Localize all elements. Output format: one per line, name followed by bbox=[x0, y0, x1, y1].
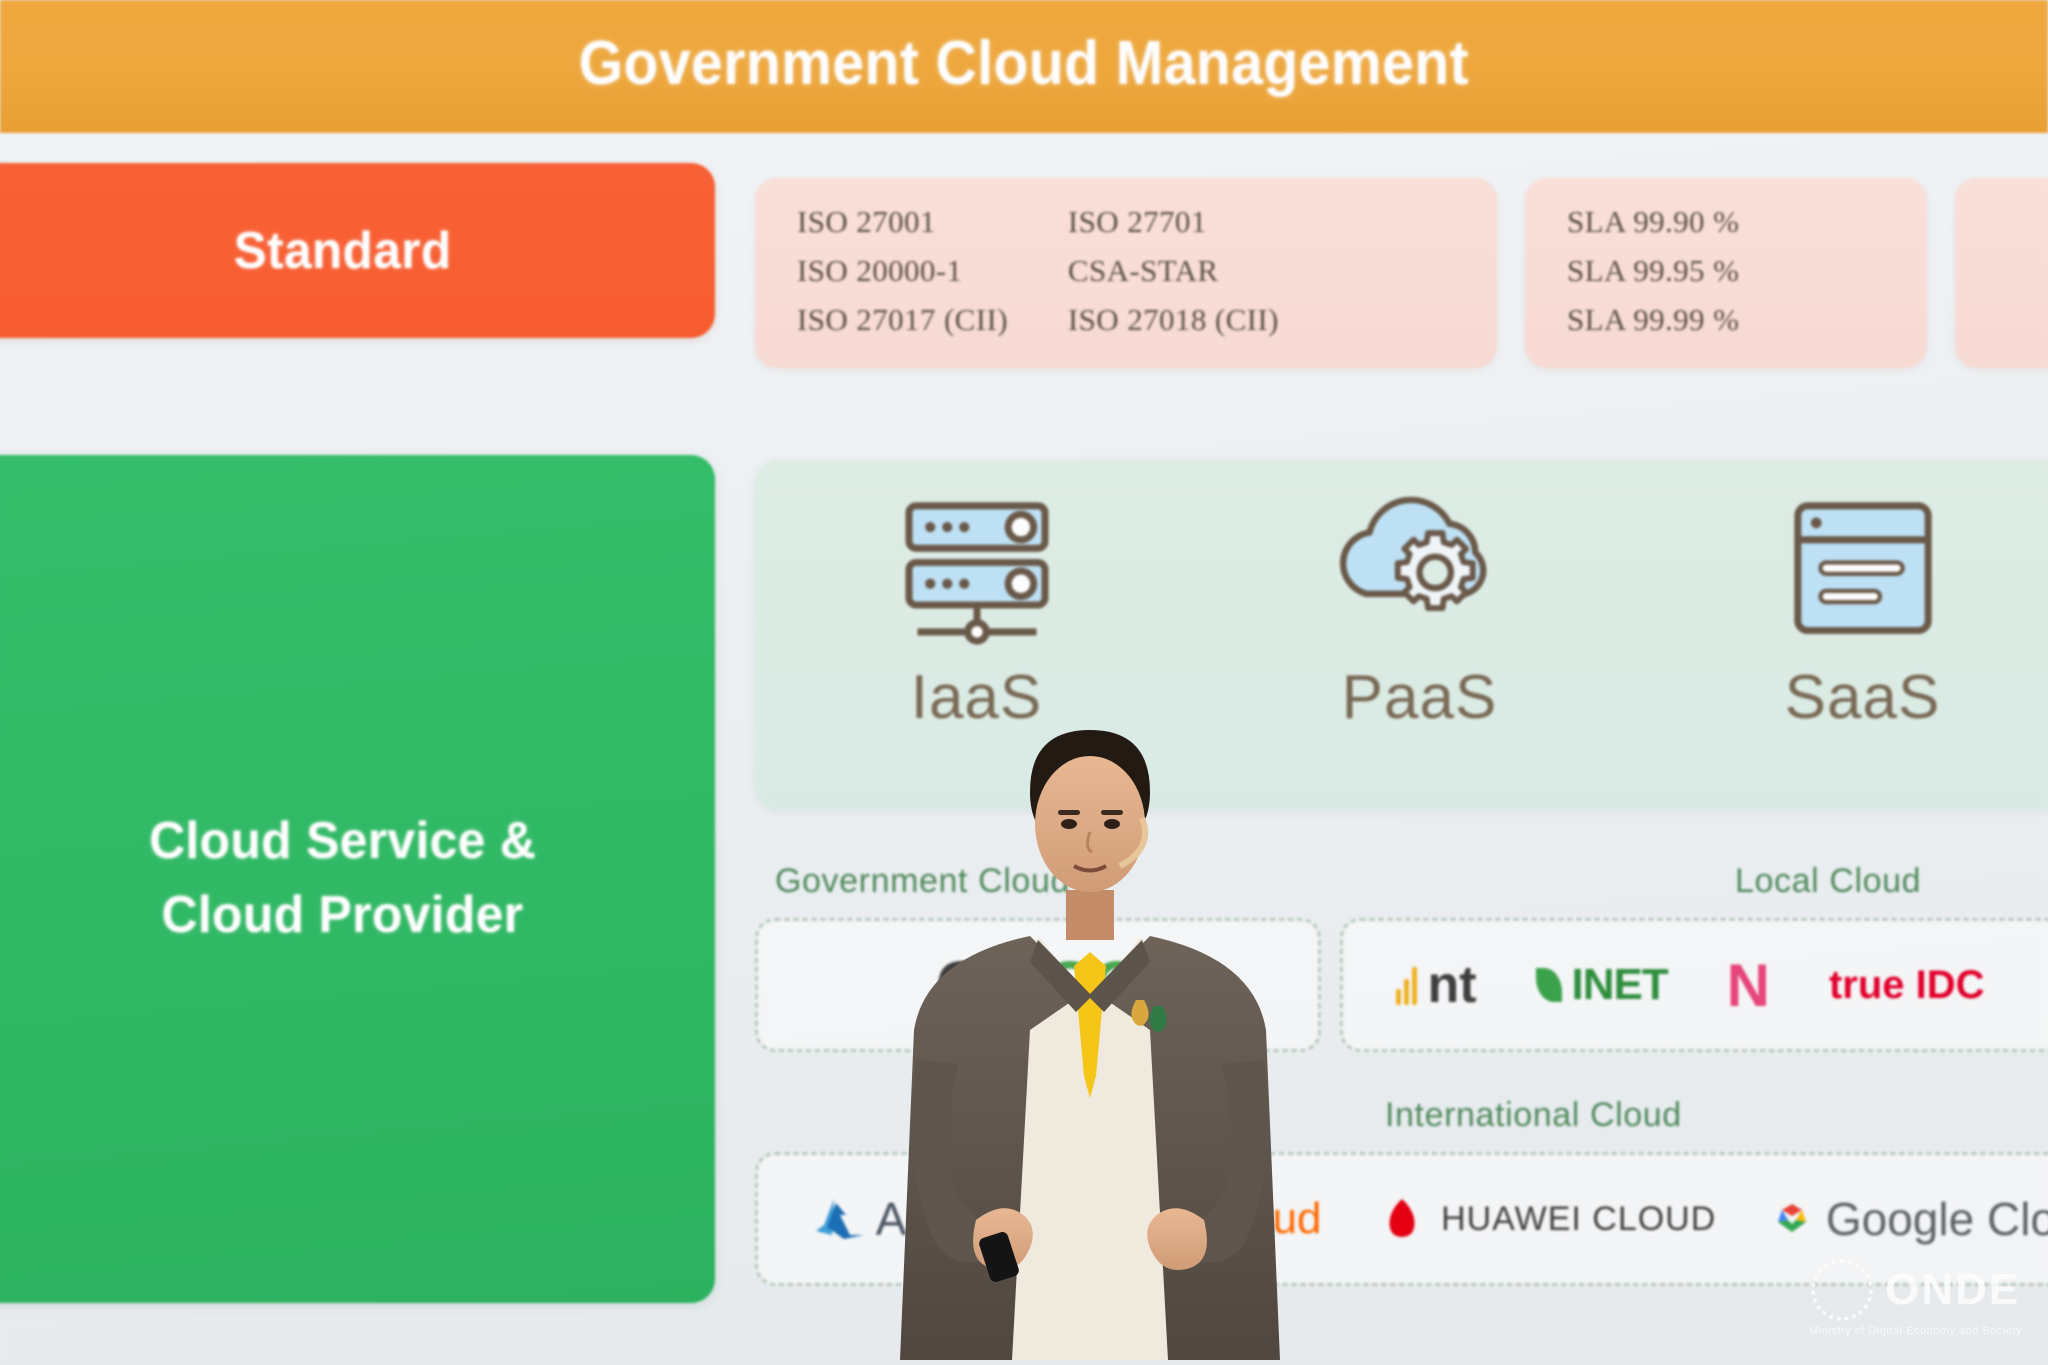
group-heading-local-cloud: Local Cloud bbox=[1735, 862, 1921, 901]
onde-watermark: ONDE Ministry of Digital Economy and Soc… bbox=[1809, 1259, 2022, 1337]
onde-watermark-text: ONDE bbox=[1885, 1265, 2020, 1315]
iso-column-1: ISO 27001 ISO 20000-1 ISO 27017 (CII) bbox=[797, 204, 1008, 338]
service-type-saas: SaaS bbox=[1641, 460, 2048, 733]
cloud-provider-section-label: Cloud Service & Cloud Provider bbox=[0, 455, 715, 1303]
inet-label: INET bbox=[1572, 960, 1668, 1010]
group-heading-international-cloud: International Cloud bbox=[1385, 1096, 1682, 1135]
service-type-paas: PaaS bbox=[1198, 460, 1641, 733]
presenter-photo bbox=[880, 700, 1300, 1365]
true-idc-label: true IDC bbox=[1829, 963, 1985, 1008]
iso-item: CSA-STAR bbox=[1068, 253, 1279, 289]
logo-true-idc: true IDC bbox=[1829, 963, 1985, 1008]
leaf-icon bbox=[1536, 968, 1562, 1002]
huawei-petal-icon bbox=[1373, 1195, 1431, 1243]
standard-cards-row: ISO 27001 ISO 20000-1 ISO 27017 (CII) IS… bbox=[755, 178, 2048, 368]
logo-cloud-generic bbox=[2043, 967, 2048, 1003]
iso-item: ISO 27018 (CII) bbox=[1068, 302, 1279, 338]
neck bbox=[1066, 890, 1114, 940]
provider-label-line1: Cloud Service & bbox=[149, 805, 536, 879]
google-cloud-icon bbox=[1768, 1198, 1816, 1240]
local-cloud-logo-box: nt INET N true IDC bbox=[1340, 918, 2048, 1052]
iso-item: ISO 27701 bbox=[1068, 204, 1279, 240]
browser-window-icon bbox=[1778, 486, 1948, 656]
google-label: Google Cloud bbox=[1826, 1192, 2048, 1246]
standard-section-label: Standard bbox=[0, 163, 715, 338]
logo-nt: nt bbox=[1396, 962, 1476, 1009]
nipa-label: N bbox=[1727, 960, 1770, 1011]
azure-icon bbox=[814, 1197, 866, 1241]
logo-google-cloud: Google Cloud bbox=[1768, 1192, 2048, 1246]
iso-column-2: ISO 27701 CSA-STAR ISO 27018 (CII) bbox=[1068, 204, 1279, 338]
service-type-iaas: IaaS bbox=[755, 460, 1198, 733]
service-type-label: PaaS bbox=[1342, 662, 1498, 733]
server-rack-icon bbox=[892, 486, 1062, 656]
sla-item: SLA 99.99 % bbox=[1567, 302, 1739, 338]
sla-item: SLA 99.90 % bbox=[1567, 204, 1739, 240]
iso-item: ISO 20000-1 bbox=[797, 253, 1008, 289]
screenshot-root: Government Cloud Management Standard ISO… bbox=[0, 0, 2048, 1365]
standard-card-cutoff bbox=[1955, 178, 2048, 368]
onde-ring-icon bbox=[1811, 1259, 1873, 1321]
cloud-icon bbox=[2043, 967, 2048, 1003]
sla-item: SLA 99.95 % bbox=[1567, 253, 1739, 289]
cloud-gear-icon bbox=[1312, 486, 1527, 656]
logo-huawei-cloud: HUAWEI CLOUD bbox=[1373, 1195, 1716, 1243]
service-type-label: SaaS bbox=[1785, 662, 1941, 733]
nt-bars-icon bbox=[1396, 965, 1417, 1005]
huawei-label: HUAWEI CLOUD bbox=[1441, 1200, 1716, 1239]
iso-item: ISO 27001 bbox=[797, 204, 1008, 240]
logo-nipa: N bbox=[1727, 960, 1770, 1011]
sla-column: SLA 99.90 % SLA 99.95 % SLA 99.99 % bbox=[1567, 204, 1739, 338]
slide-title-bar: Government Cloud Management bbox=[0, 0, 2048, 133]
sla-card: SLA 99.90 % SLA 99.95 % SLA 99.99 % bbox=[1525, 178, 1927, 368]
iso-item: ISO 27017 (CII) bbox=[797, 302, 1008, 338]
iso-standards-card: ISO 27001 ISO 20000-1 ISO 27017 (CII) IS… bbox=[755, 178, 1497, 368]
provider-label-line2: Cloud Provider bbox=[162, 879, 524, 953]
logo-inet: INET bbox=[1536, 960, 1668, 1010]
standard-label-text: Standard bbox=[234, 221, 452, 281]
slide-title: Government Cloud Management bbox=[579, 28, 1469, 99]
nt-label: nt bbox=[1427, 962, 1476, 1009]
onde-watermark-subtitle: Ministry of Digital Economy and Society bbox=[1809, 1325, 2022, 1337]
